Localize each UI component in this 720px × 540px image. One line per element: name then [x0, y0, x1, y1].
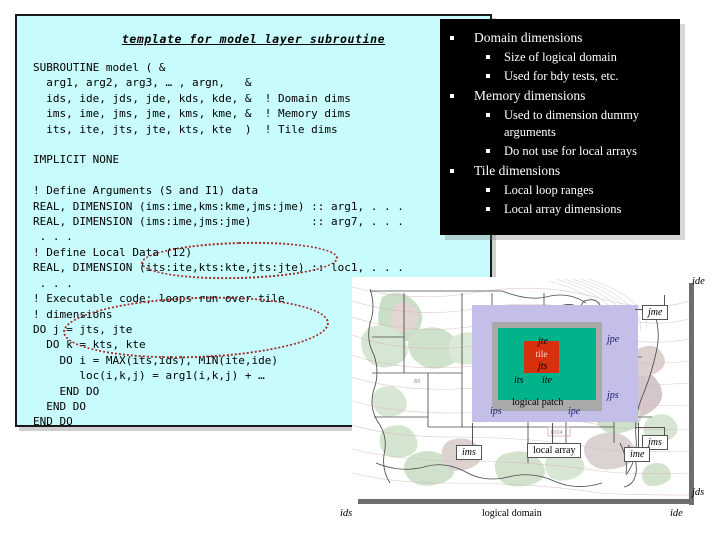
label-box-ims: ims — [456, 445, 482, 460]
bullet-item: Local array dimensions — [486, 200, 672, 219]
domain-decomposition-diagram: 1004 60 65 tile jte jts its ite — [352, 277, 699, 509]
bullet-text: Tile dimensions — [474, 162, 560, 180]
label-box-ime: ime — [624, 447, 650, 462]
bullet-square-icon — [486, 188, 490, 192]
bullet-square-icon — [450, 169, 454, 173]
bullet-item: Local loop ranges — [486, 181, 672, 200]
leader-ime — [638, 423, 639, 447]
index-its: its — [514, 375, 523, 386]
slide-canvas: template for model layer subroutine SUBR… — [0, 0, 720, 540]
index-jts: jts — [538, 361, 547, 372]
bullet-square-icon — [486, 113, 490, 117]
index-jds: jds — [692, 487, 704, 498]
bullet-item: Domain dimensions — [446, 28, 672, 48]
logical-patch-region: tile jte jts its ite logical patch — [492, 322, 602, 411]
bullet-text: Size of logical domain — [504, 49, 617, 66]
label-box-jme: jme — [642, 305, 668, 320]
index-ide-right: ide — [670, 508, 683, 519]
index-ide-top: ide — [692, 276, 705, 287]
bullet-item: Size of logical domain — [486, 48, 672, 67]
index-jte: jte — [538, 336, 548, 347]
bullet-text: Used for bdy tests, etc. — [504, 68, 619, 85]
bullet-square-icon — [486, 207, 490, 211]
bullet-text: Local loop ranges — [504, 182, 594, 199]
map-shadow-bottom — [358, 499, 694, 504]
bullet-text: Do not use for local arrays — [504, 143, 637, 160]
bullet-item: Tile dimensions — [446, 161, 672, 181]
bullet-square-icon — [486, 149, 490, 153]
bullet-item: Do not use for local arrays — [486, 142, 672, 161]
bullet-text: Memory dimensions — [474, 87, 585, 105]
index-ips: ips — [490, 406, 502, 417]
bullet-square-icon — [486, 74, 490, 78]
index-ipe: ipe — [568, 406, 580, 417]
bullet-text: Local array dimensions — [504, 201, 621, 218]
logical-domain-caption: logical domain — [482, 508, 542, 519]
bullet-text: Domain dimensions — [474, 29, 582, 47]
local-array-region: tile jte jts its ite logical patch jpe j… — [472, 305, 638, 422]
bullet-square-icon — [486, 55, 490, 59]
dimensions-bullet-panel: Domain dimensions Size of logical domain… — [440, 19, 680, 235]
svg-text:60: 60 — [414, 379, 420, 385]
index-jps: jps — [607, 390, 619, 401]
label-box-local-array: local array — [527, 443, 581, 458]
bullet-item: Used for bdy tests, etc. — [486, 67, 672, 86]
bullet-item: Used to dimension dummy arguments — [486, 106, 672, 142]
bullet-item: Memory dimensions — [446, 86, 672, 106]
leader-local-array — [552, 423, 553, 443]
logical-patch-caption: logical patch — [512, 397, 563, 408]
index-ids: ids — [340, 508, 352, 519]
leader-jms — [635, 427, 665, 428]
bullet-square-icon — [450, 36, 454, 40]
index-ite: ite — [542, 375, 552, 386]
code-panel-title: template for model layer subroutine — [17, 32, 490, 46]
patch-interior: tile jte jts its ite — [498, 328, 596, 400]
tile-label: tile — [524, 350, 559, 360]
index-jpe: jpe — [607, 334, 619, 345]
map-shadow-right — [689, 283, 694, 505]
bullet-text: Used to dimension dummy arguments — [504, 107, 664, 141]
leader-ims — [472, 423, 473, 445]
bullet-square-icon — [450, 94, 454, 98]
